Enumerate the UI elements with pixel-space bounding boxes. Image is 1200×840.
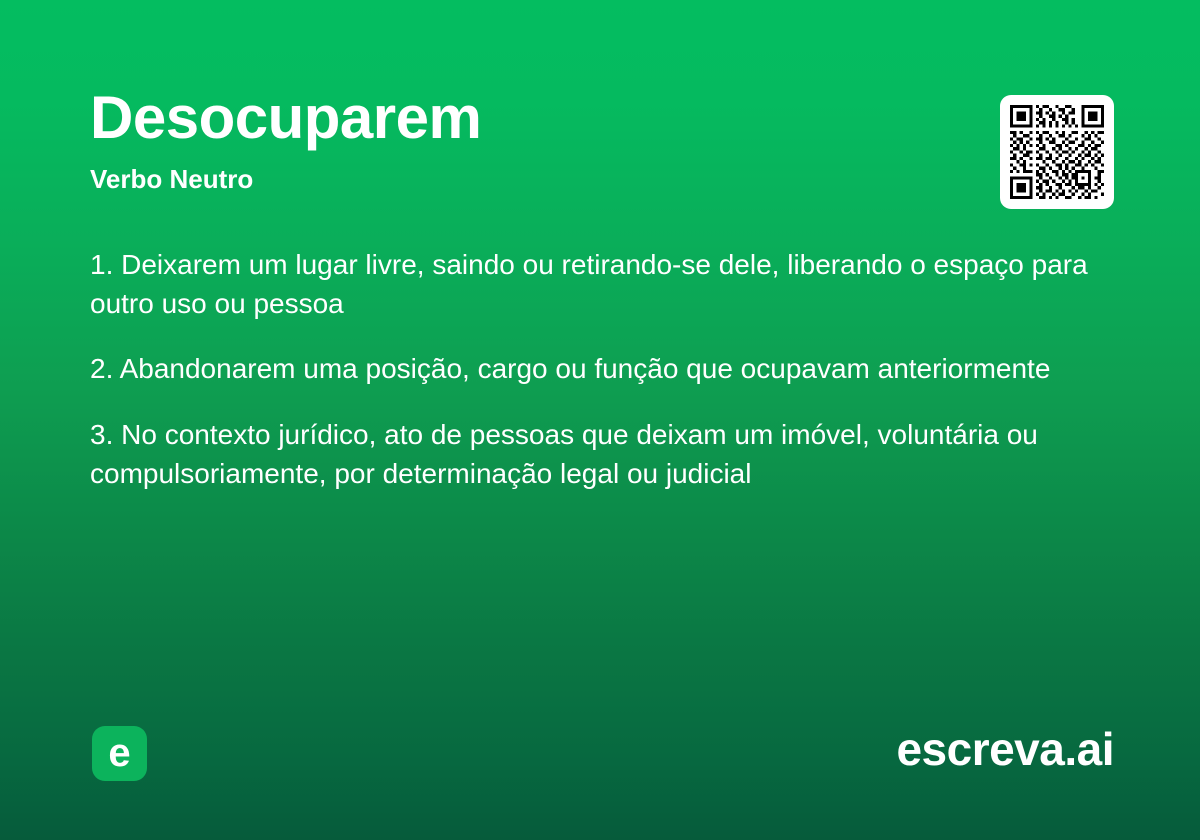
qr-code-card[interactable] <box>1000 95 1114 209</box>
definition-item-3: 3. No contexto jurídico, ato de pessoas … <box>90 415 1115 493</box>
definition-card: Desocuparem Verbo Neutro <box>0 0 1200 840</box>
definition-list: 1. Deixarem um lugar livre, saindo ou re… <box>90 245 1115 493</box>
definition-item-1: 1. Deixarem um lugar livre, saindo ou re… <box>90 245 1115 323</box>
qr-code-icon <box>1010 105 1104 199</box>
definition-item-2: 2. Abandonarem uma posição, cargo ou fun… <box>90 349 1115 388</box>
word-class-label: Verbo Neutro <box>90 166 970 192</box>
card-header: Desocuparem Verbo Neutro <box>90 88 970 192</box>
brand-wordmark: escreva.ai <box>896 722 1114 777</box>
page-title: Desocuparem <box>90 88 970 148</box>
brand-logo-icon: e <box>92 726 147 781</box>
brand-logo-letter: e <box>108 733 130 773</box>
